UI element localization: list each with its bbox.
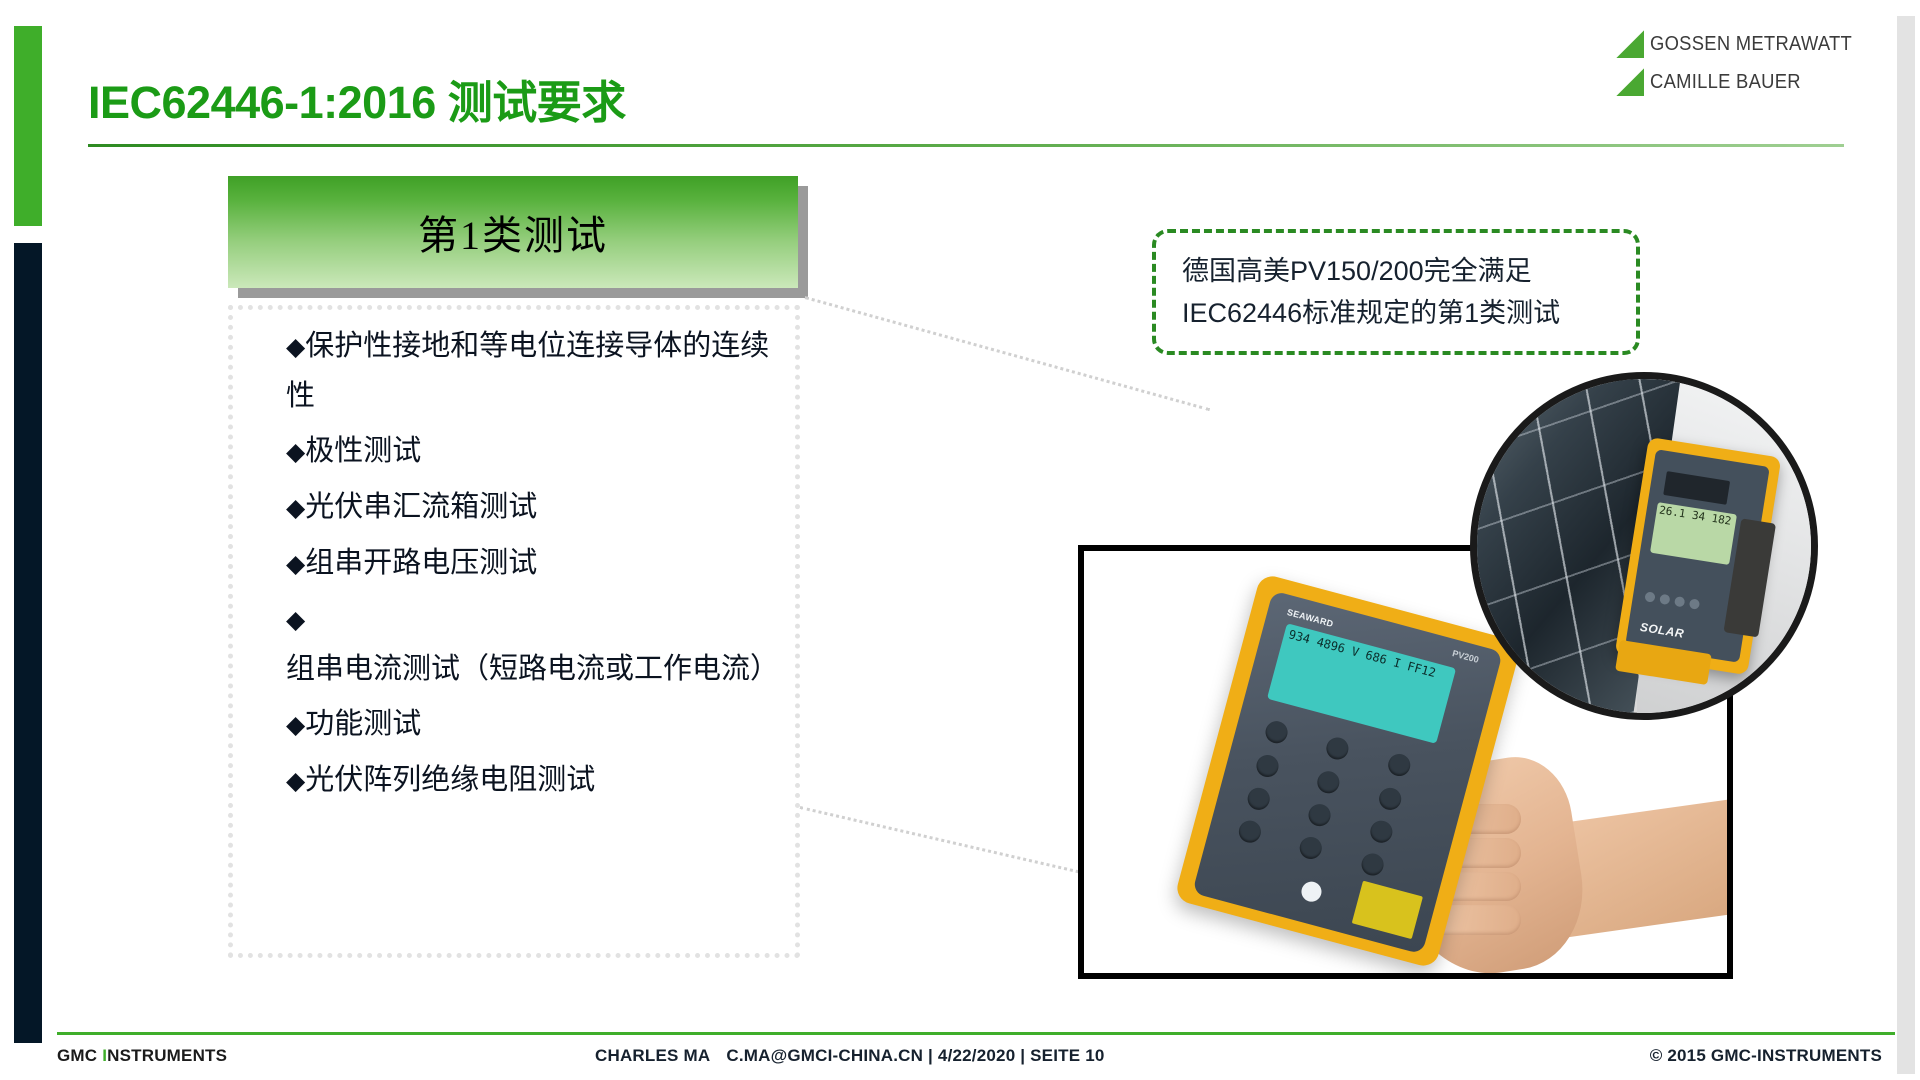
left-accent-bar-green bbox=[14, 26, 42, 226]
diamond-bullet-icon: ◆ bbox=[286, 606, 305, 634]
diamond-bullet-icon: ◆ bbox=[286, 494, 305, 522]
list-item-label: 保护性接地和等电位连接导体的连续性 bbox=[286, 330, 769, 412]
diamond-bullet-icon: ◆ bbox=[286, 333, 305, 361]
list-item-label: 组串开路电压测试 bbox=[305, 547, 537, 579]
title-underline bbox=[88, 144, 1844, 147]
meter-button bbox=[1688, 598, 1699, 609]
meter-brand-label: SOLAR bbox=[1639, 619, 1685, 640]
brand-gossen-metrawatt: GOSSEN METRAWATT bbox=[1616, 30, 1870, 58]
device-keypad bbox=[1234, 718, 1443, 892]
list-item: ◆组串电流测试（短路电流或工作电流） bbox=[286, 595, 786, 694]
meter-lcd-display: 26.1 34 182 bbox=[1649, 501, 1737, 565]
list-item: ◆组串开路电压测试 bbox=[286, 539, 786, 589]
heading-box-face: 第1类测试 bbox=[228, 176, 798, 288]
list-item-label: 极性测试 bbox=[305, 435, 421, 467]
diamond-bullet-icon: ◆ bbox=[286, 438, 305, 466]
nfc-icon bbox=[1298, 879, 1322, 903]
vertical-scrollbar[interactable] bbox=[1897, 16, 1915, 1074]
list-item-label: 功能测试 bbox=[305, 708, 421, 740]
device-model-label: PV200 bbox=[1451, 648, 1480, 665]
left-accent-bar-navy bbox=[14, 243, 42, 1043]
list-item-label: 光伏串汇流箱测试 bbox=[305, 491, 537, 523]
footer-logo-prefix: GMC bbox=[57, 1046, 102, 1065]
brand-logos: GOSSEN METRAWATT CAMILLE BAUER bbox=[1616, 30, 1870, 96]
connector-line-list-to-photo bbox=[800, 806, 1103, 879]
meter-button bbox=[1673, 596, 1684, 607]
list-item-label: 光伏阵列绝缘电阻测试 bbox=[305, 764, 595, 796]
callout-box: 德国高美PV150/200完全满足 IEC62446标准规定的第1类测试 bbox=[1152, 229, 1640, 355]
slide-canvas: IEC62446-1:2016 测试要求 GOSSEN METRAWATT CA… bbox=[0, 0, 1920, 1080]
keypad-button bbox=[1297, 835, 1324, 862]
list-item: ◆光伏串汇流箱测试 bbox=[286, 483, 786, 533]
keypad-button bbox=[1315, 768, 1342, 795]
keypad-button bbox=[1324, 735, 1351, 762]
footer-copyright: © 2015 GMC-INSTRUMENTS bbox=[1650, 1046, 1882, 1066]
footer-contact: C.MA@GMCI-CHINA.CN | 4/22/2020 | SEITE 1… bbox=[726, 1046, 1104, 1065]
keypad-button bbox=[1385, 751, 1412, 778]
footer-meta: CHARLES MAC.MA@GMCI-CHINA.CN | 4/22/2020… bbox=[595, 1046, 1105, 1066]
keypad-button bbox=[1236, 818, 1263, 845]
callout-line-1: 德国高美PV150/200完全满足 bbox=[1182, 250, 1636, 292]
meter-button bbox=[1659, 593, 1670, 604]
brand-camille-bauer: CAMILLE BAUER bbox=[1616, 68, 1814, 96]
keypad-button bbox=[1306, 801, 1333, 828]
meter-button-row bbox=[1643, 588, 1716, 615]
connector-line-heading-to-callout bbox=[805, 296, 1211, 411]
footer-logo-suffix: NSTRUMENTS bbox=[107, 1046, 227, 1065]
keypad-button bbox=[1376, 785, 1403, 812]
footer-author: CHARLES MA bbox=[595, 1046, 710, 1065]
triangle-icon bbox=[1616, 68, 1644, 96]
keypad-button bbox=[1262, 718, 1289, 745]
keypad-button bbox=[1245, 785, 1272, 812]
callout-line-2: IEC62446标准规定的第1类测试 bbox=[1182, 292, 1636, 334]
footer-company-logo: GMC INSTRUMENTS bbox=[57, 1046, 227, 1066]
list-item-label: 组串电流测试（短路电流或工作电流） bbox=[286, 653, 779, 685]
triangle-icon bbox=[1616, 30, 1644, 58]
product-photo-solar-meter: 26.1 34 182 SOLAR bbox=[1470, 372, 1818, 720]
meter-button bbox=[1644, 591, 1655, 602]
list-item: ◆功能测试 bbox=[286, 700, 786, 750]
brand-label-camille: CAMILLE BAUER bbox=[1650, 71, 1801, 94]
diamond-bullet-icon: ◆ bbox=[286, 767, 305, 795]
meter-top-slot bbox=[1663, 471, 1730, 505]
keypad-button bbox=[1367, 818, 1394, 845]
brand-label-gossen: GOSSEN METRAWATT bbox=[1650, 33, 1852, 56]
list-item: ◆保护性接地和等电位连接导体的连续性 bbox=[286, 322, 786, 421]
warning-label-sticker bbox=[1351, 880, 1422, 938]
category-heading-box: 第1类测试 bbox=[228, 176, 798, 288]
bullet-list: ◆保护性接地和等电位连接导体的连续性 ◆极性测试 ◆光伏串汇流箱测试 ◆组串开路… bbox=[286, 322, 786, 812]
keypad-button bbox=[1253, 752, 1280, 779]
diamond-bullet-icon: ◆ bbox=[286, 550, 305, 578]
page-title: IEC62446-1:2016 测试要求 bbox=[88, 66, 626, 131]
list-item: ◆光伏阵列绝缘电阻测试 bbox=[286, 756, 786, 806]
footer-divider bbox=[57, 1032, 1895, 1035]
list-item: ◆极性测试 bbox=[286, 427, 786, 477]
diamond-bullet-icon: ◆ bbox=[286, 711, 305, 739]
heading-box-label: 第1类测试 bbox=[418, 203, 608, 261]
keypad-button bbox=[1358, 851, 1385, 878]
